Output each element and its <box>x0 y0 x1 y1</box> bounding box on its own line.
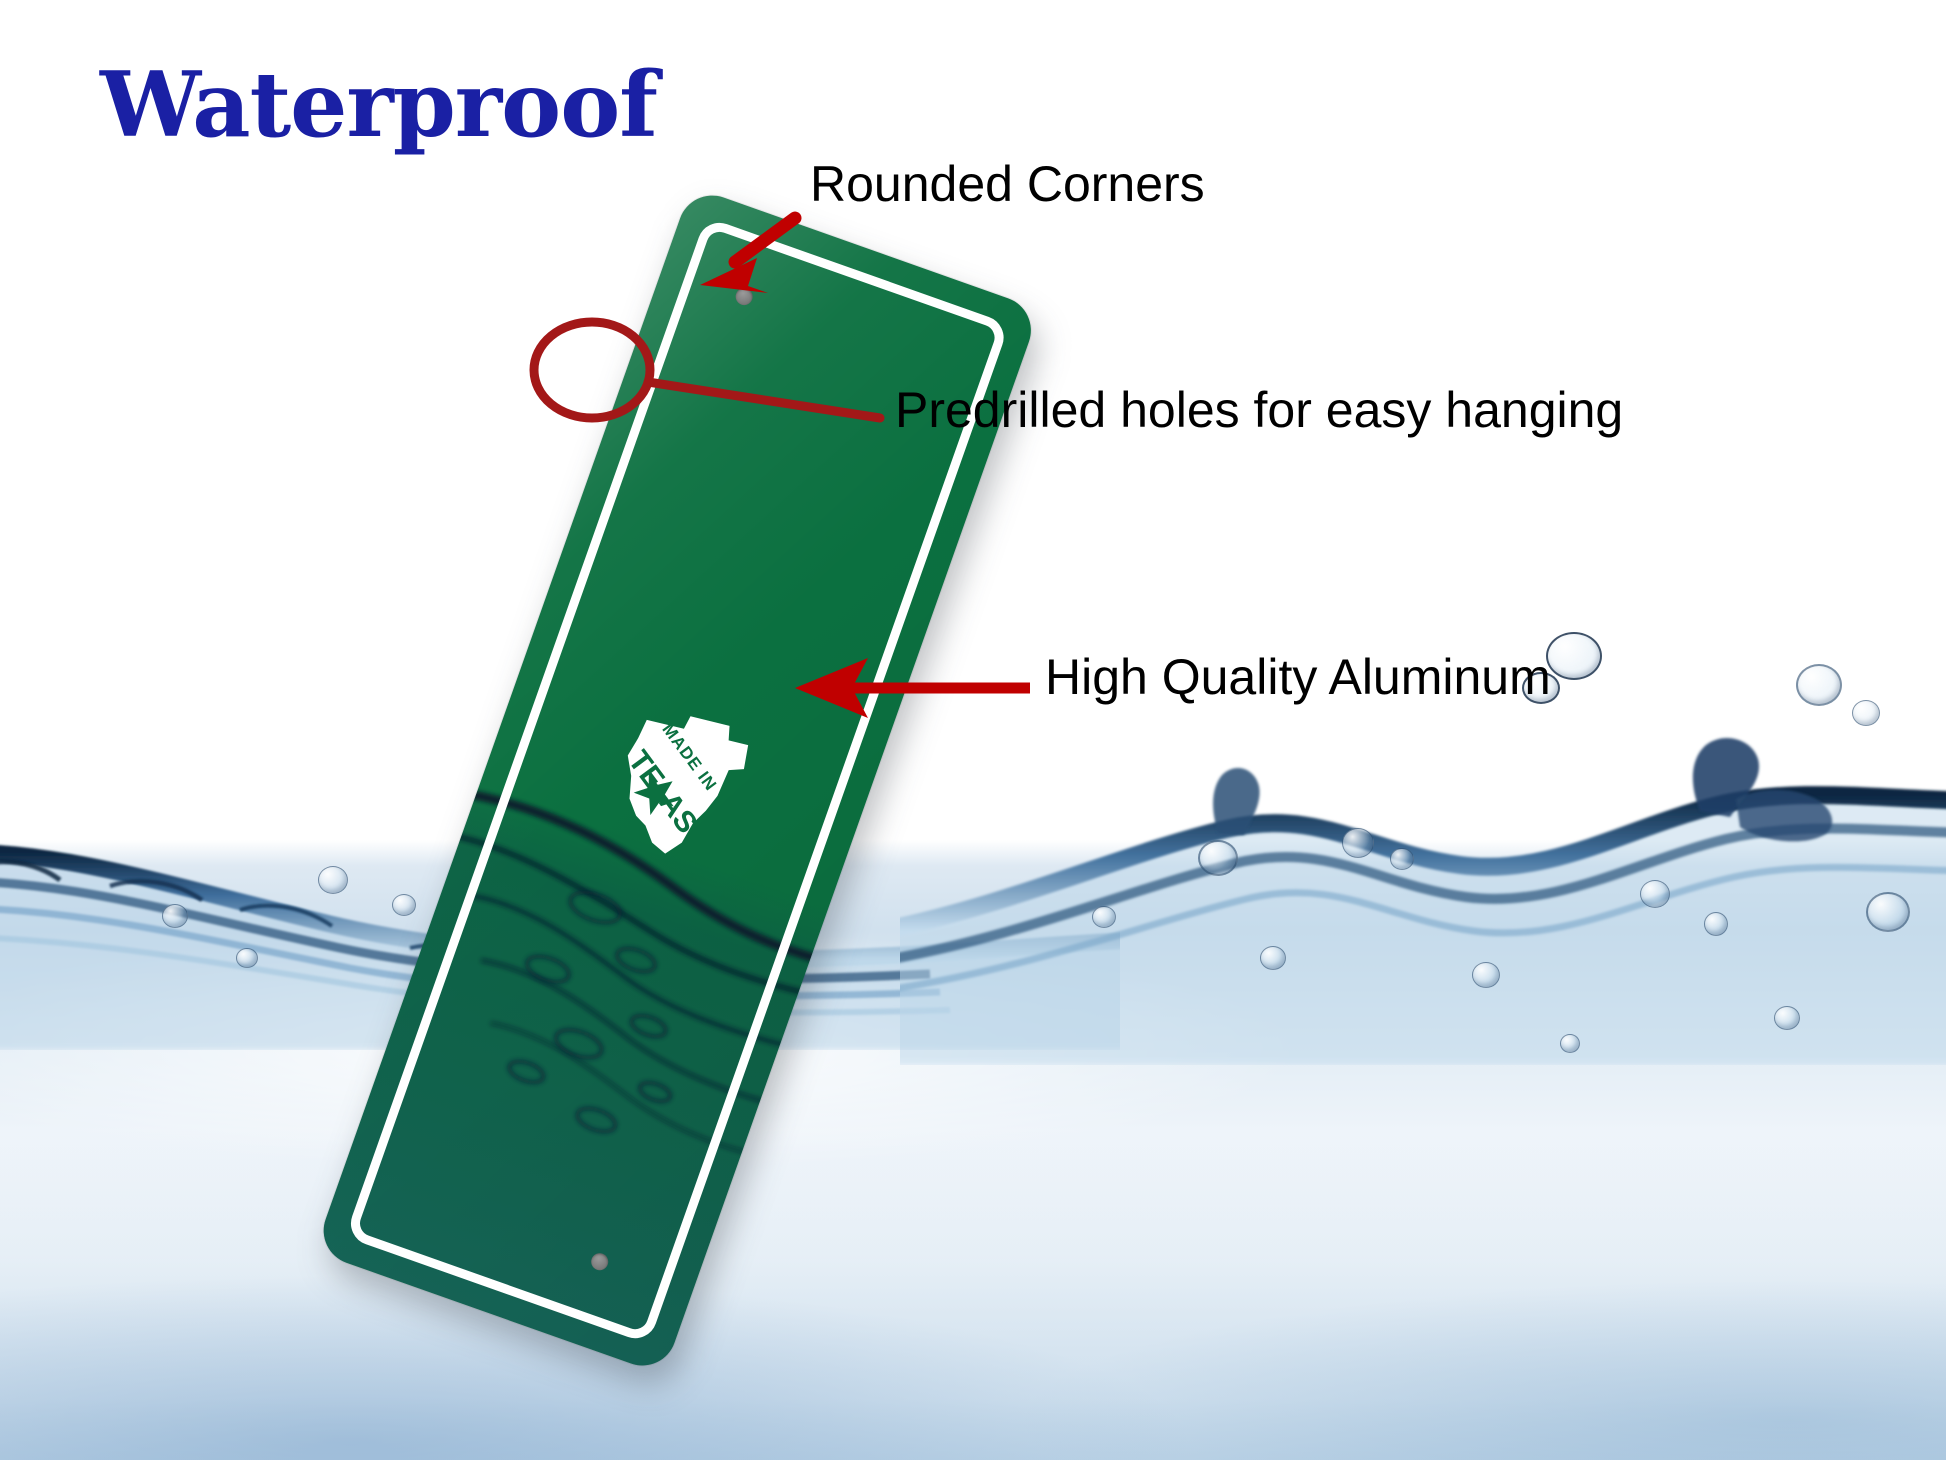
water-bubble <box>1774 1006 1800 1030</box>
water-crest-right <box>900 735 1946 1065</box>
product-feature-graphic: MADE IN TE AS <box>0 0 1946 1460</box>
water-bubble <box>1390 848 1414 870</box>
page-title: Waterproof <box>100 52 657 158</box>
water-bubble <box>236 948 258 968</box>
callout-label-rounded-corners: Rounded Corners <box>810 155 1205 213</box>
water-bubble <box>1546 632 1602 680</box>
callout-label-high-quality-aluminum: High Quality Aluminum <box>1045 648 1551 706</box>
water-bubble <box>1640 880 1670 908</box>
annotation-overlay <box>0 0 1946 1460</box>
water-bubble <box>1866 892 1910 932</box>
water-bubble <box>392 894 416 916</box>
water-underlight-glow <box>0 930 1946 1230</box>
water-bubble <box>1198 840 1238 876</box>
water-bubble <box>1342 828 1374 858</box>
aluminum-sign[interactable]: MADE IN TE AS <box>314 186 1040 1375</box>
water-bubble <box>1092 906 1116 928</box>
water-bubble <box>1560 1034 1580 1053</box>
water-bubble <box>1260 946 1286 970</box>
sign-face: MADE IN TE AS <box>314 186 1040 1375</box>
water-bubble <box>1796 664 1842 706</box>
callout-label-predrilled-holes: Predrilled holes for easy hanging <box>895 381 1623 439</box>
water-bubble <box>318 866 348 894</box>
water-body-gradient <box>0 840 1946 1460</box>
water-bubble <box>1852 700 1880 726</box>
water-background <box>0 0 1946 1460</box>
water-bubble <box>162 904 188 928</box>
water-deep-gradient <box>0 1130 1946 1460</box>
water-bubble <box>1472 962 1500 988</box>
water-bubble <box>1704 912 1728 936</box>
